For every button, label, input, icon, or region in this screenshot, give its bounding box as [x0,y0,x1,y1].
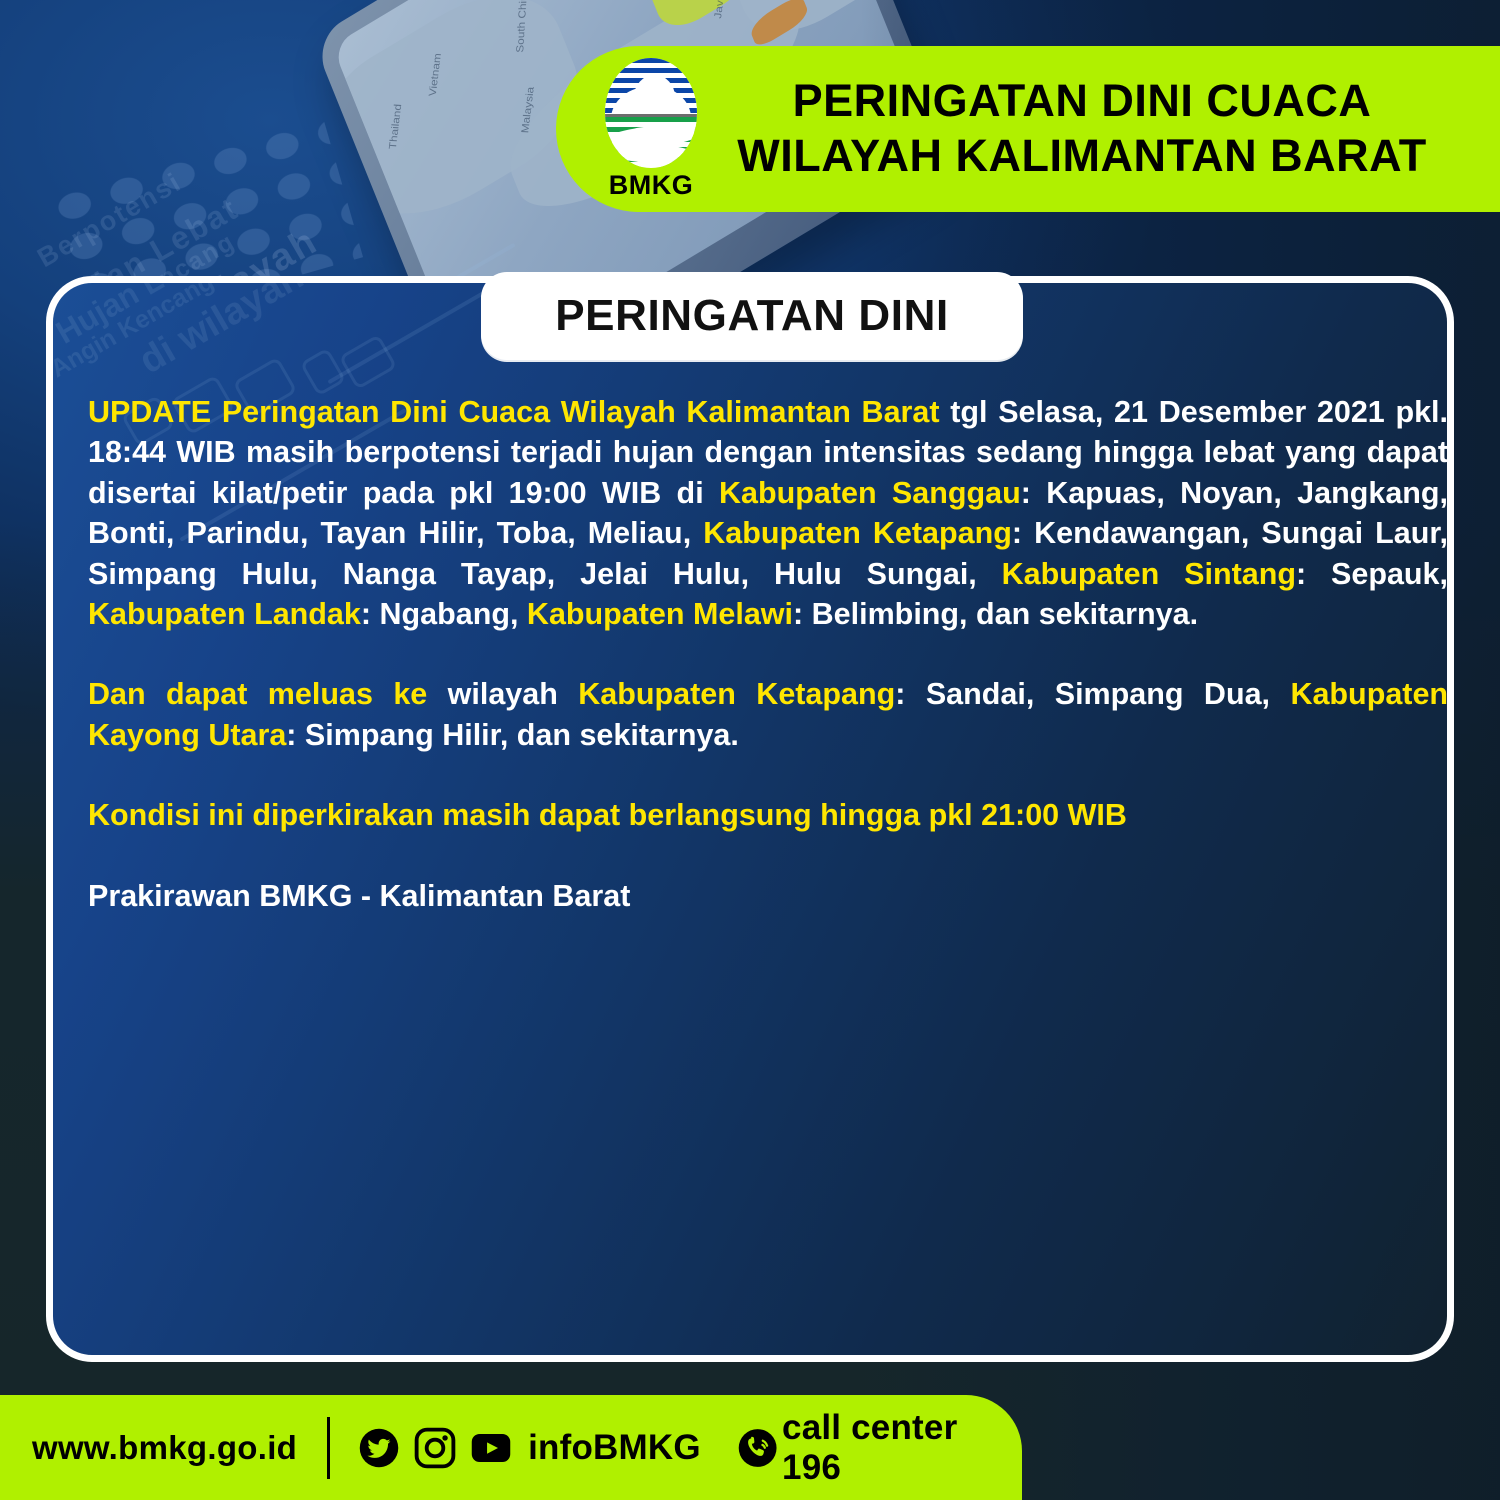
card-ghost-angin: Angin Kencang [53,283,219,384]
p1-kab-melawi: Kabupaten Melawi [527,597,793,631]
p1-update-heading: UPDATE Peringatan Dini Cuaca Wilayah Kal… [88,395,940,429]
p2-seg4: : Sandai, Simpang Dua, [895,677,1290,711]
youtube-icon[interactable] [470,1427,512,1469]
p1-seg8: : Sepauk, [1296,557,1448,591]
header-banner: BMKG PERINGATAN DINI CUACA WILAYAH KALIM… [556,46,1500,212]
header-title-line1: PERINGATAN DINI CUACA [793,74,1372,129]
p2-kab-ketapang: Kabupaten Ketapang [578,677,895,711]
paragraph-signature: Prakirawan BMKG - Kalimantan Barat [88,876,1448,916]
bmkg-logo-text: BMKG [609,170,694,201]
peringatan-dini-tab: PERINGATAN DINI [481,272,1023,360]
footer-call-center[interactable]: call center 196 [737,1408,1022,1488]
p1-kab-landak: Kabupaten Landak [88,597,361,631]
p1-kab-sintang: Kabupaten Sintang [1002,557,1296,591]
card-ghost-hujan: Hujan Lebat [53,283,227,352]
card-ghost-wilayah: di wilayah [132,283,311,383]
p3-duration-text: Kondisi ini diperkirakan masih dapat ber… [88,798,1127,832]
header-title-line2: WILAYAH KALIMANTAN BARAT [737,129,1426,184]
p4-signature: Prakirawan BMKG - Kalimantan Barat [88,879,630,913]
paragraph-main: UPDATE Peringatan Dini Cuaca Wilayah Kal… [88,392,1448,634]
p2-seg6: : Simpang Hilir, dan sekitarnya. [286,718,739,752]
p2-seg2: wilayah [427,677,578,711]
p2-meluas-heading: Dan dapat meluas ke [88,677,427,711]
phone-icon[interactable] [737,1427,778,1469]
bmkg-logo: BMKG [592,58,710,201]
footer-social-handle[interactable]: infoBMKG [528,1428,701,1468]
footer-bar: www.bmkg.go.id infoBMKG [0,1395,1022,1500]
instagram-icon[interactable] [414,1427,456,1469]
p1-seg12: : Belimbing, dan sekitarnya. [793,597,1198,631]
paragraph-expansion: Dan dapat meluas ke wilayah Kabupaten Ke… [88,674,1448,755]
footer-social-icons [358,1427,512,1469]
warning-body-text: UPDATE Peringatan Dini Cuaca Wilayah Kal… [88,392,1448,916]
twitter-icon[interactable] [358,1427,400,1469]
footer-website[interactable]: www.bmkg.go.id [32,1429,297,1467]
paragraph-duration: Kondisi ini diperkirakan masih dapat ber… [88,795,1448,835]
bmkg-logo-icon [605,58,697,168]
footer-call-center-label[interactable]: call center 196 [782,1408,1022,1488]
footer-divider [327,1417,330,1479]
p1-seg10: : Ngabang, [361,597,527,631]
p1-kab-ketapang: Kabupaten Ketapang [703,516,1012,550]
card-ghost-berpotensi: Berpotensi [53,283,169,306]
p1-kab-sanggau: Kabupaten Sanggau [719,476,1021,510]
tab-label: PERINGATAN DINI [555,291,949,341]
bmkg-warning-poster: Thailand Vietnam South China Sea Philipp… [0,0,1500,1500]
header-title-block: PERINGATAN DINI CUACA WILAYAH KALIMANTAN… [710,74,1500,184]
